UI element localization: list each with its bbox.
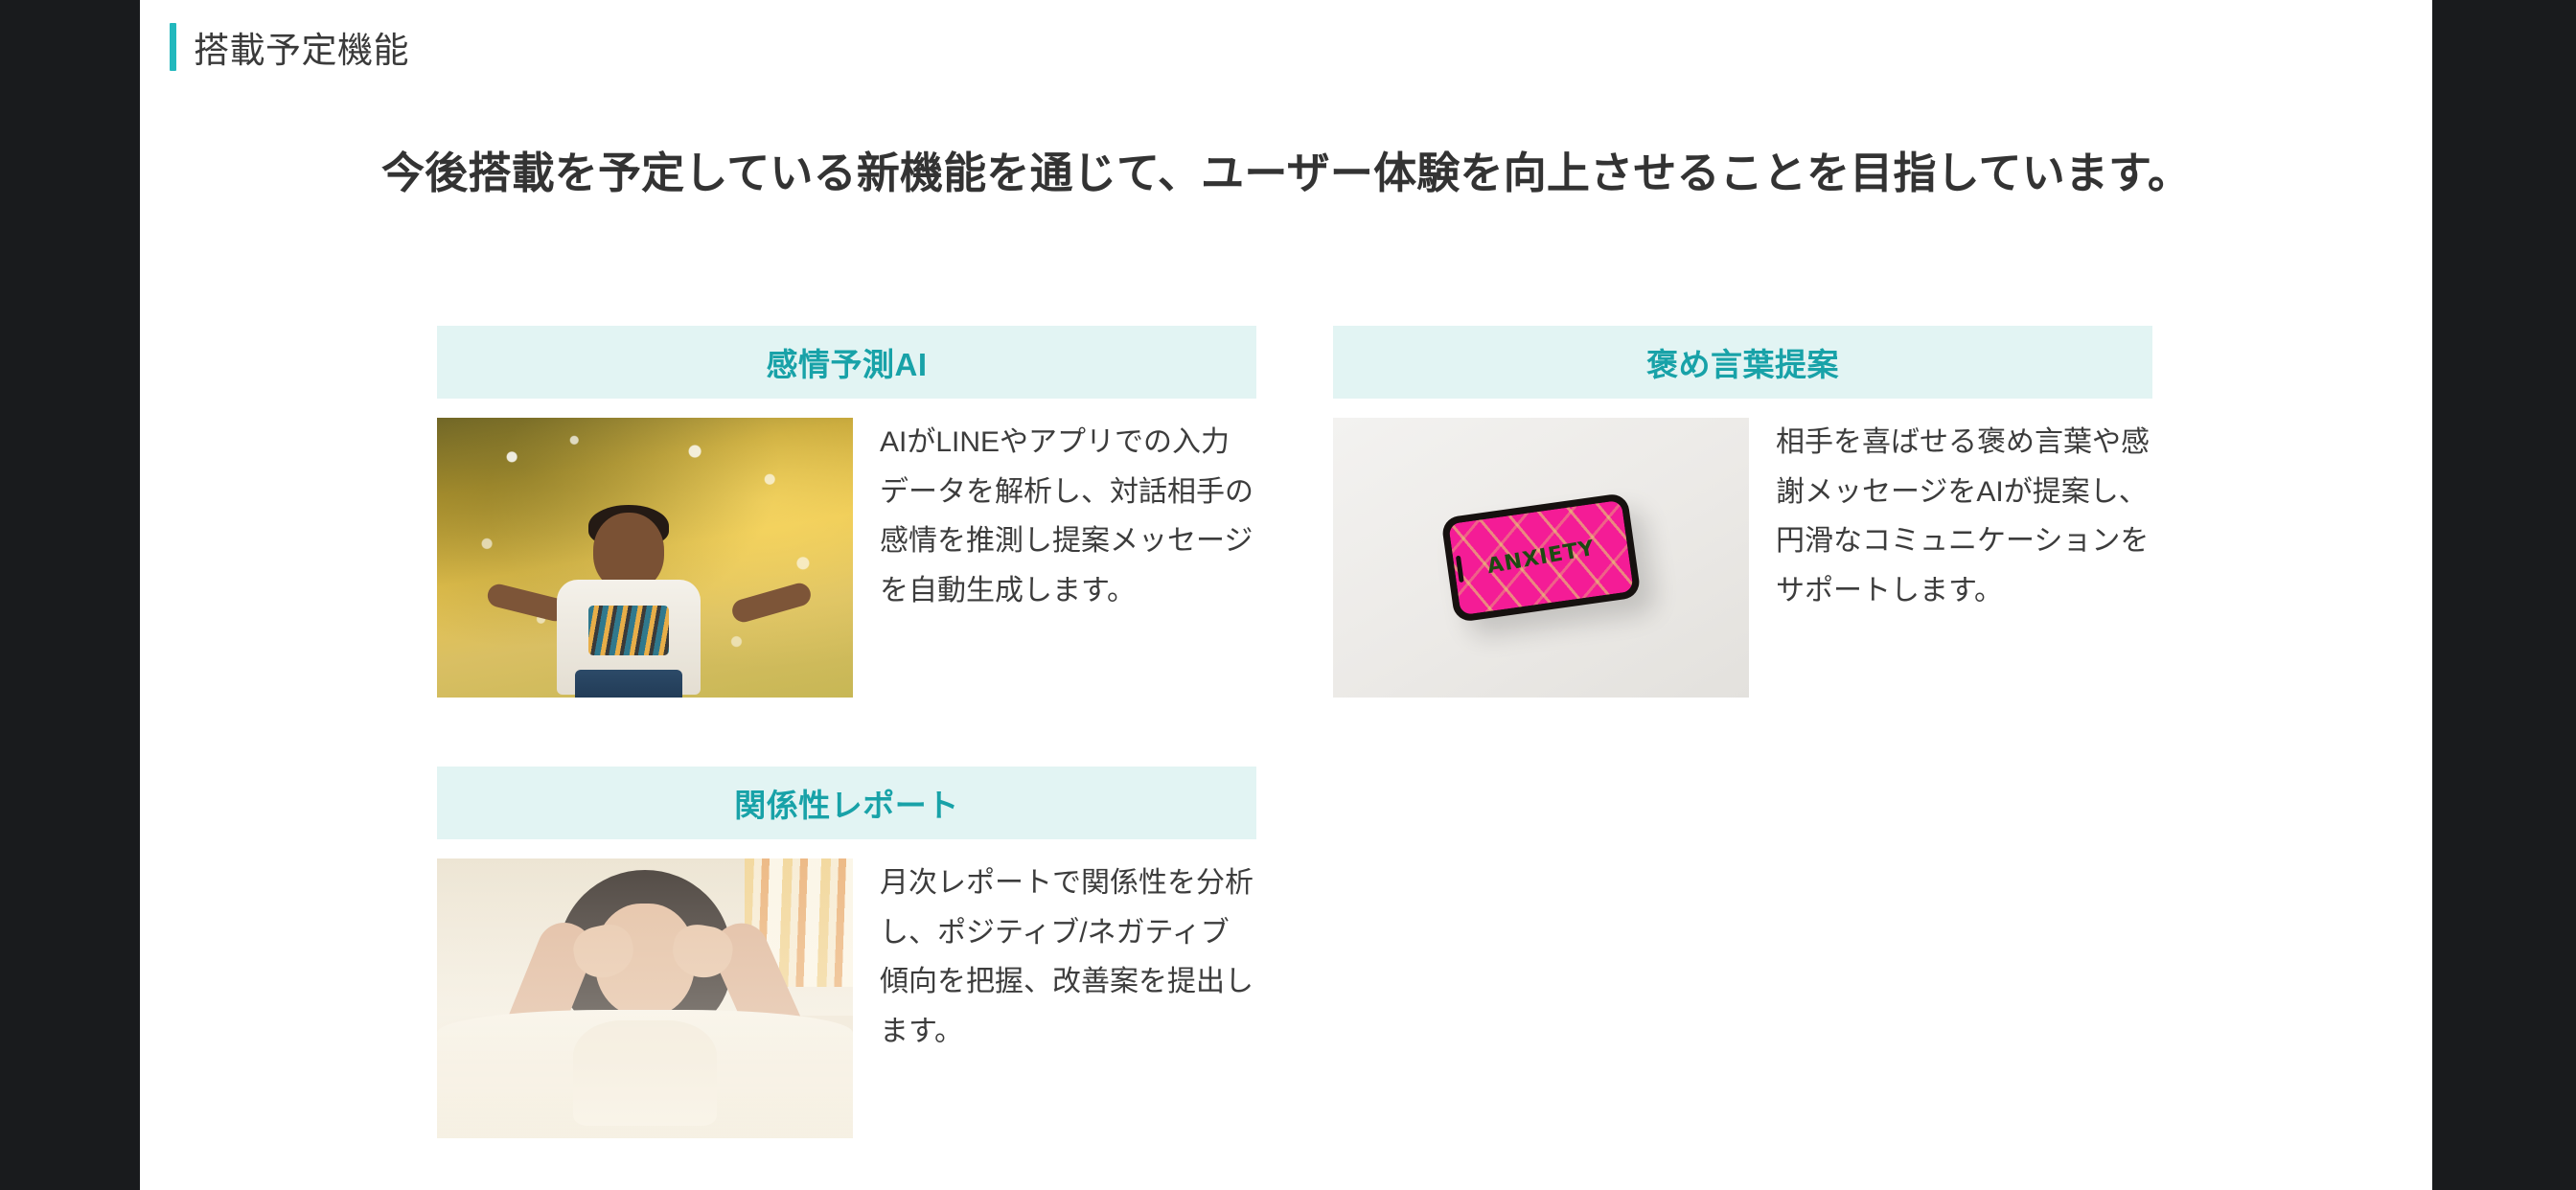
card-body: 月次レポートで関係性を分析し、ポジティブ/ネガティブ傾向を把握、改善案を提出しま… [437, 858, 1256, 1138]
feature-card-grid: 感情予測AI AIがLINEやアプリでの入力データを解析し、対話相手の [437, 326, 2315, 1138]
feature-card-relationship-report[interactable]: 関係性レポート [437, 767, 1256, 1138]
screenshot-viewport: 搭載予定機能 今後搭載を予定している新機能を通じて、ユーザー体験を向上させること… [0, 0, 2576, 1190]
feature-card-emotion-ai[interactable]: 感情予測AI AIがLINEやアプリでの入力データを解析し、対話相手の [437, 326, 1256, 698]
accent-bar-icon [170, 23, 176, 71]
section-title: 搭載予定機能 [194, 21, 409, 73]
section-header: 搭載予定機能 [170, 21, 409, 73]
card-title: 関係性レポート [734, 780, 959, 826]
right-letterbox-rail [2432, 0, 2576, 1190]
card-title: 褒め言葉提案 [1646, 339, 1839, 385]
page-content: 搭載予定機能 今後搭載を予定している新機能を通じて、ユーザー体験を向上させること… [140, 0, 2432, 1190]
card-description: AIがLINEやアプリでの入力データを解析し、対話相手の感情を推測し提案メッセー… [880, 418, 1255, 698]
card-body: AIがLINEやアプリでの入力データを解析し、対話相手の感情を推測し提案メッセー… [437, 418, 1256, 698]
lead-heading: 今後搭載を予定している新機能を通じて、ユーザー体験を向上させることを目指していま… [328, 142, 2244, 204]
bathtub-woman-photo [437, 858, 853, 1138]
card-row: 関係性レポート [437, 767, 2315, 1138]
card-description: 相手を喜ばせる褒め言葉や感謝メッセージをAIが提案し、円滑なコミュニケーションを… [1776, 418, 2151, 698]
card-body: ANXIETY 相手を喜ばせる褒め言葉や感謝メッセージをAIが提案し、円滑なコミ… [1333, 418, 2152, 698]
feature-card-compliment[interactable]: 褒め言葉提案 ANXIETY 相手を喜ばせる褒め言葉や感謝メッセージをAIが提案… [1333, 326, 2152, 698]
card-header: 褒め言葉提案 [1333, 326, 2152, 399]
card-header: 関係性レポート [437, 767, 1256, 839]
left-letterbox-rail [0, 0, 140, 1190]
card-header: 感情予測AI [437, 326, 1256, 399]
phone-screen-word: ANXIETY [1453, 531, 1629, 584]
anxiety-phone-photo: ANXIETY [1333, 418, 1749, 698]
sprinkler-boy-photo [437, 418, 853, 698]
card-description: 月次レポートで関係性を分析し、ポジティブ/ネガティブ傾向を把握、改善案を提出しま… [880, 858, 1255, 1138]
card-row: 感情予測AI AIがLINEやアプリでの入力データを解析し、対話相手の [437, 326, 2315, 698]
card-title: 感情予測AI [767, 339, 928, 385]
